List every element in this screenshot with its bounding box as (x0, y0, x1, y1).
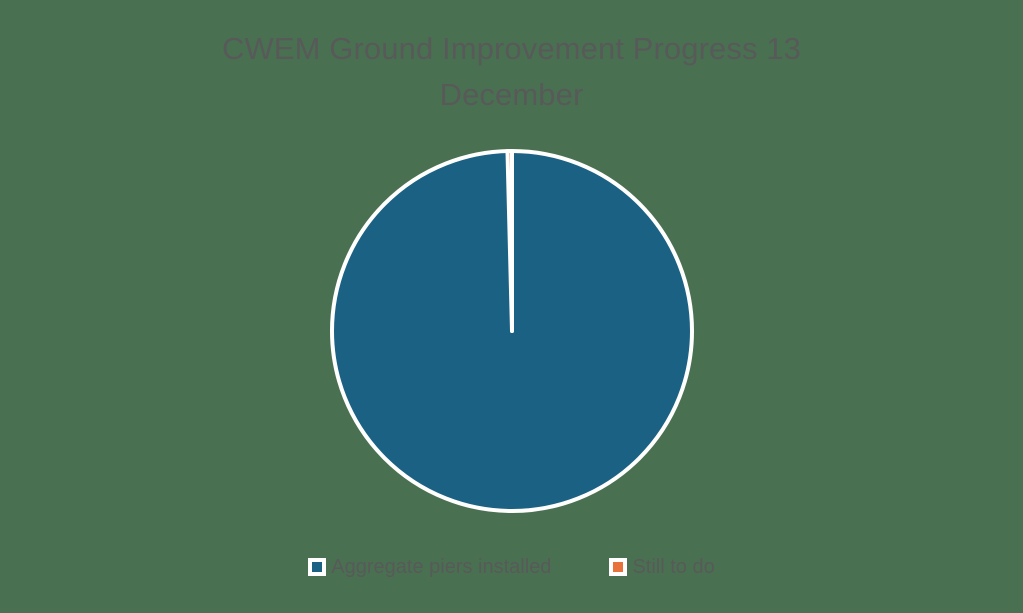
plot-area (0, 130, 1023, 530)
legend-item-label: Still to do (632, 556, 714, 578)
pie-chart-figure: CWEM Ground Improvement Progress 13 Dece… (0, 0, 1023, 613)
chart-legend: Aggregate piers installed Still to do (0, 556, 1023, 578)
pie-slices-group (332, 151, 692, 511)
pie-svg (326, 145, 698, 517)
legend-item-label: Aggregate piers installed (331, 556, 551, 578)
square-swatch-icon (312, 562, 322, 572)
legend-swatch-box (308, 558, 326, 576)
chart-title: CWEM Ground Improvement Progress 13 Dece… (0, 26, 1023, 118)
legend-item-aggregate-piers-installed[interactable]: Aggregate piers installed (308, 556, 551, 578)
legend-swatch-box (609, 558, 627, 576)
square-swatch-icon (613, 562, 623, 572)
legend-item-still-to-do[interactable]: Still to do (609, 556, 714, 578)
